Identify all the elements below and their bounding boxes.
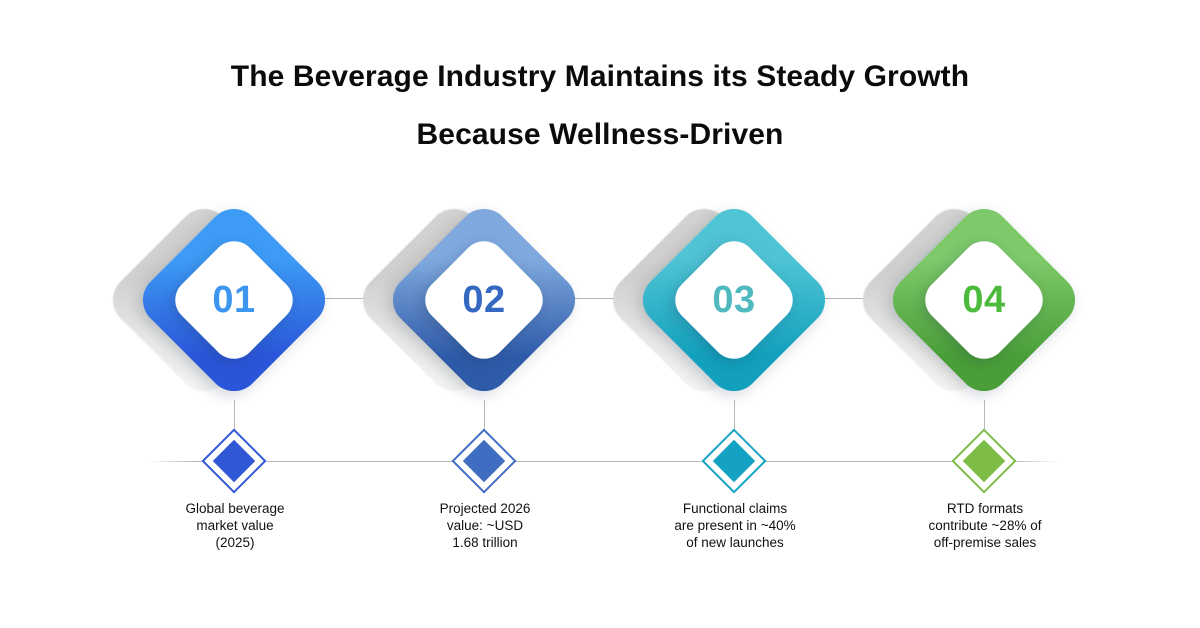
caption-line: market value bbox=[110, 517, 360, 534]
diamond-group-02[interactable]: 02 bbox=[360, 192, 610, 408]
caption-line: RTD formats bbox=[860, 500, 1110, 517]
step-caption-04: RTD formats contribute ~28% of off-premi… bbox=[860, 500, 1110, 551]
timeline-baseline bbox=[148, 461, 1058, 462]
caption-line: (2025) bbox=[110, 534, 360, 551]
diamond-group-03[interactable]: 03 bbox=[610, 192, 860, 408]
caption-line: 1.68 trillion bbox=[360, 534, 610, 551]
step-caption-03: Functional claims are present in ~40% of… bbox=[610, 500, 860, 551]
step-number-04: 04 bbox=[912, 228, 1056, 372]
caption-line: value: ~USD bbox=[360, 517, 610, 534]
step-node-02[interactable]: 02 Projected 2026 value: ~USD 1.68 trill… bbox=[360, 0, 610, 628]
infographic-stage: 01 Global beverage market value (2025) 0… bbox=[0, 0, 1200, 628]
caption-line: Projected 2026 bbox=[360, 500, 610, 517]
caption-line: are present in ~40% bbox=[610, 517, 860, 534]
caption-line: of new launches bbox=[610, 534, 860, 551]
step-node-04[interactable]: 04 RTD formats contribute ~28% of off-pr… bbox=[860, 0, 1110, 628]
step-node-03[interactable]: 03 Functional claims are present in ~40%… bbox=[610, 0, 860, 628]
timeline-marker-02[interactable] bbox=[461, 438, 507, 484]
step-node-01[interactable]: 01 Global beverage market value (2025) bbox=[110, 0, 360, 628]
caption-line: contribute ~28% of bbox=[860, 517, 1110, 534]
timeline-marker-04[interactable] bbox=[961, 438, 1007, 484]
caption-line: off-premise sales bbox=[860, 534, 1110, 551]
caption-line: Functional claims bbox=[610, 500, 860, 517]
step-number-03: 03 bbox=[662, 228, 806, 372]
diamond-group-04[interactable]: 04 bbox=[860, 192, 1110, 408]
timeline-marker-01[interactable] bbox=[211, 438, 257, 484]
diamond-group-01[interactable]: 01 bbox=[110, 192, 360, 408]
caption-line: Global beverage bbox=[110, 500, 360, 517]
step-caption-01: Global beverage market value (2025) bbox=[110, 500, 360, 551]
timeline-marker-03[interactable] bbox=[711, 438, 757, 484]
step-number-02: 02 bbox=[412, 228, 556, 372]
step-number-01: 01 bbox=[162, 228, 306, 372]
step-caption-02: Projected 2026 value: ~USD 1.68 trillion bbox=[360, 500, 610, 551]
